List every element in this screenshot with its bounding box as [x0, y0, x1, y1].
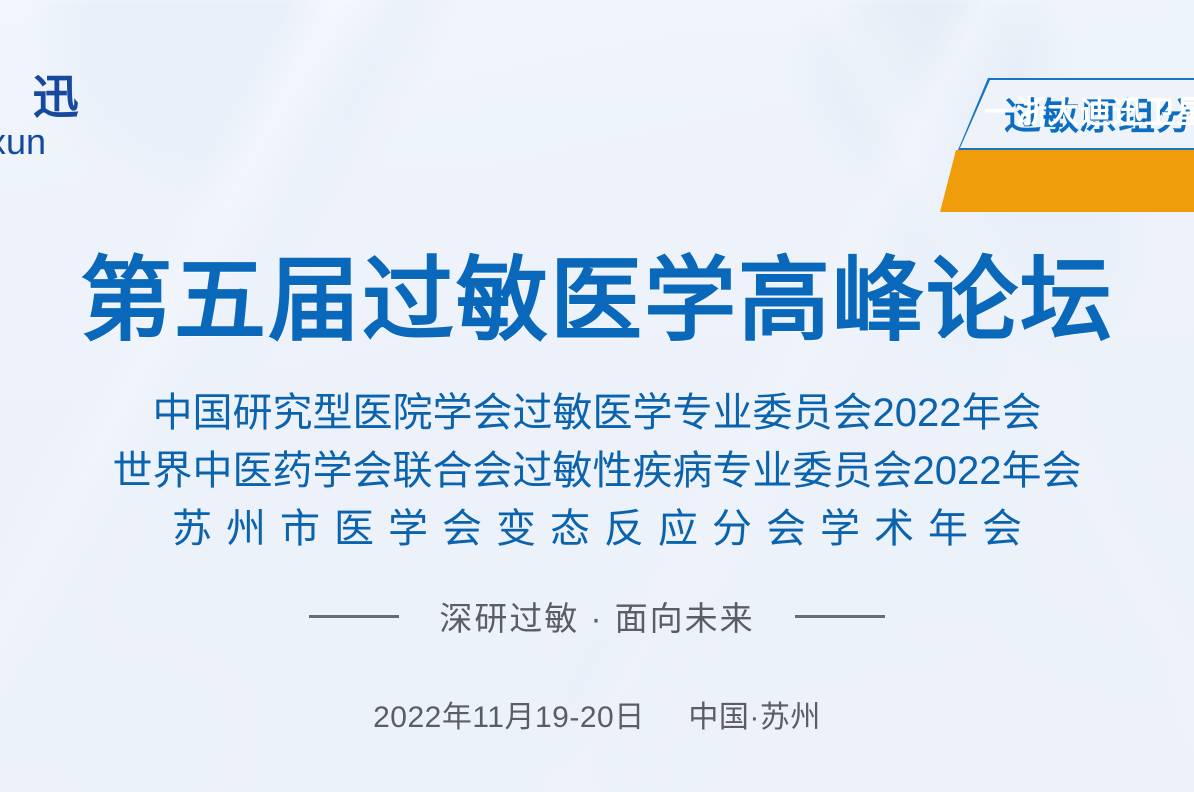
satellite-session-banner: 过敏原组分诊 一浙大迪迅卫星会 [958, 78, 1194, 214]
tagline-rule-left [309, 615, 399, 618]
conference-poster: 迪 迅 Dixun 过敏原组分诊 一浙大迪迅卫星会 第五届过敏医学高峰论坛 中国… [0, 0, 1194, 792]
subtitle-line-3: 苏州市医学会变态反应分会学术年会 [0, 500, 1194, 558]
subtitle-group: 中国研究型医院学会过敏医学专业委员会2022年会 世界中医药学会联合会过敏性疾病… [0, 384, 1194, 558]
date-venue-line: 2022年11月19-20日 中国·苏州 [0, 692, 1194, 736]
banner-bottom-label: 一浙大迪迅卫星会 [984, 87, 1194, 132]
logo-english-text: Dixun [0, 124, 164, 160]
subtitle-line-2: 世界中医药学会联合会过敏性疾病专业委员会2022年会 [0, 442, 1194, 500]
tagline-group: 深研过敏 · 面向未来 [0, 592, 1194, 640]
event-date: 2022年11月19-20日 [373, 701, 645, 734]
page-title: 第五届过敏医学高峰论坛 [0, 252, 1194, 351]
event-venue: 中国·苏州 [688, 701, 821, 734]
tagline-text: 深研过敏 · 面向未来 [439, 592, 754, 640]
banner-bottom-band [940, 150, 1194, 212]
zhejiang-dixun-logo: 迪 迅 Dixun [0, 74, 164, 160]
tagline-rule-right [795, 615, 885, 618]
subtitle-line-1: 中国研究型医院学会过敏医学专业委员会2022年会 [0, 384, 1194, 442]
logo-chinese-text: 迪 迅 [0, 74, 164, 120]
